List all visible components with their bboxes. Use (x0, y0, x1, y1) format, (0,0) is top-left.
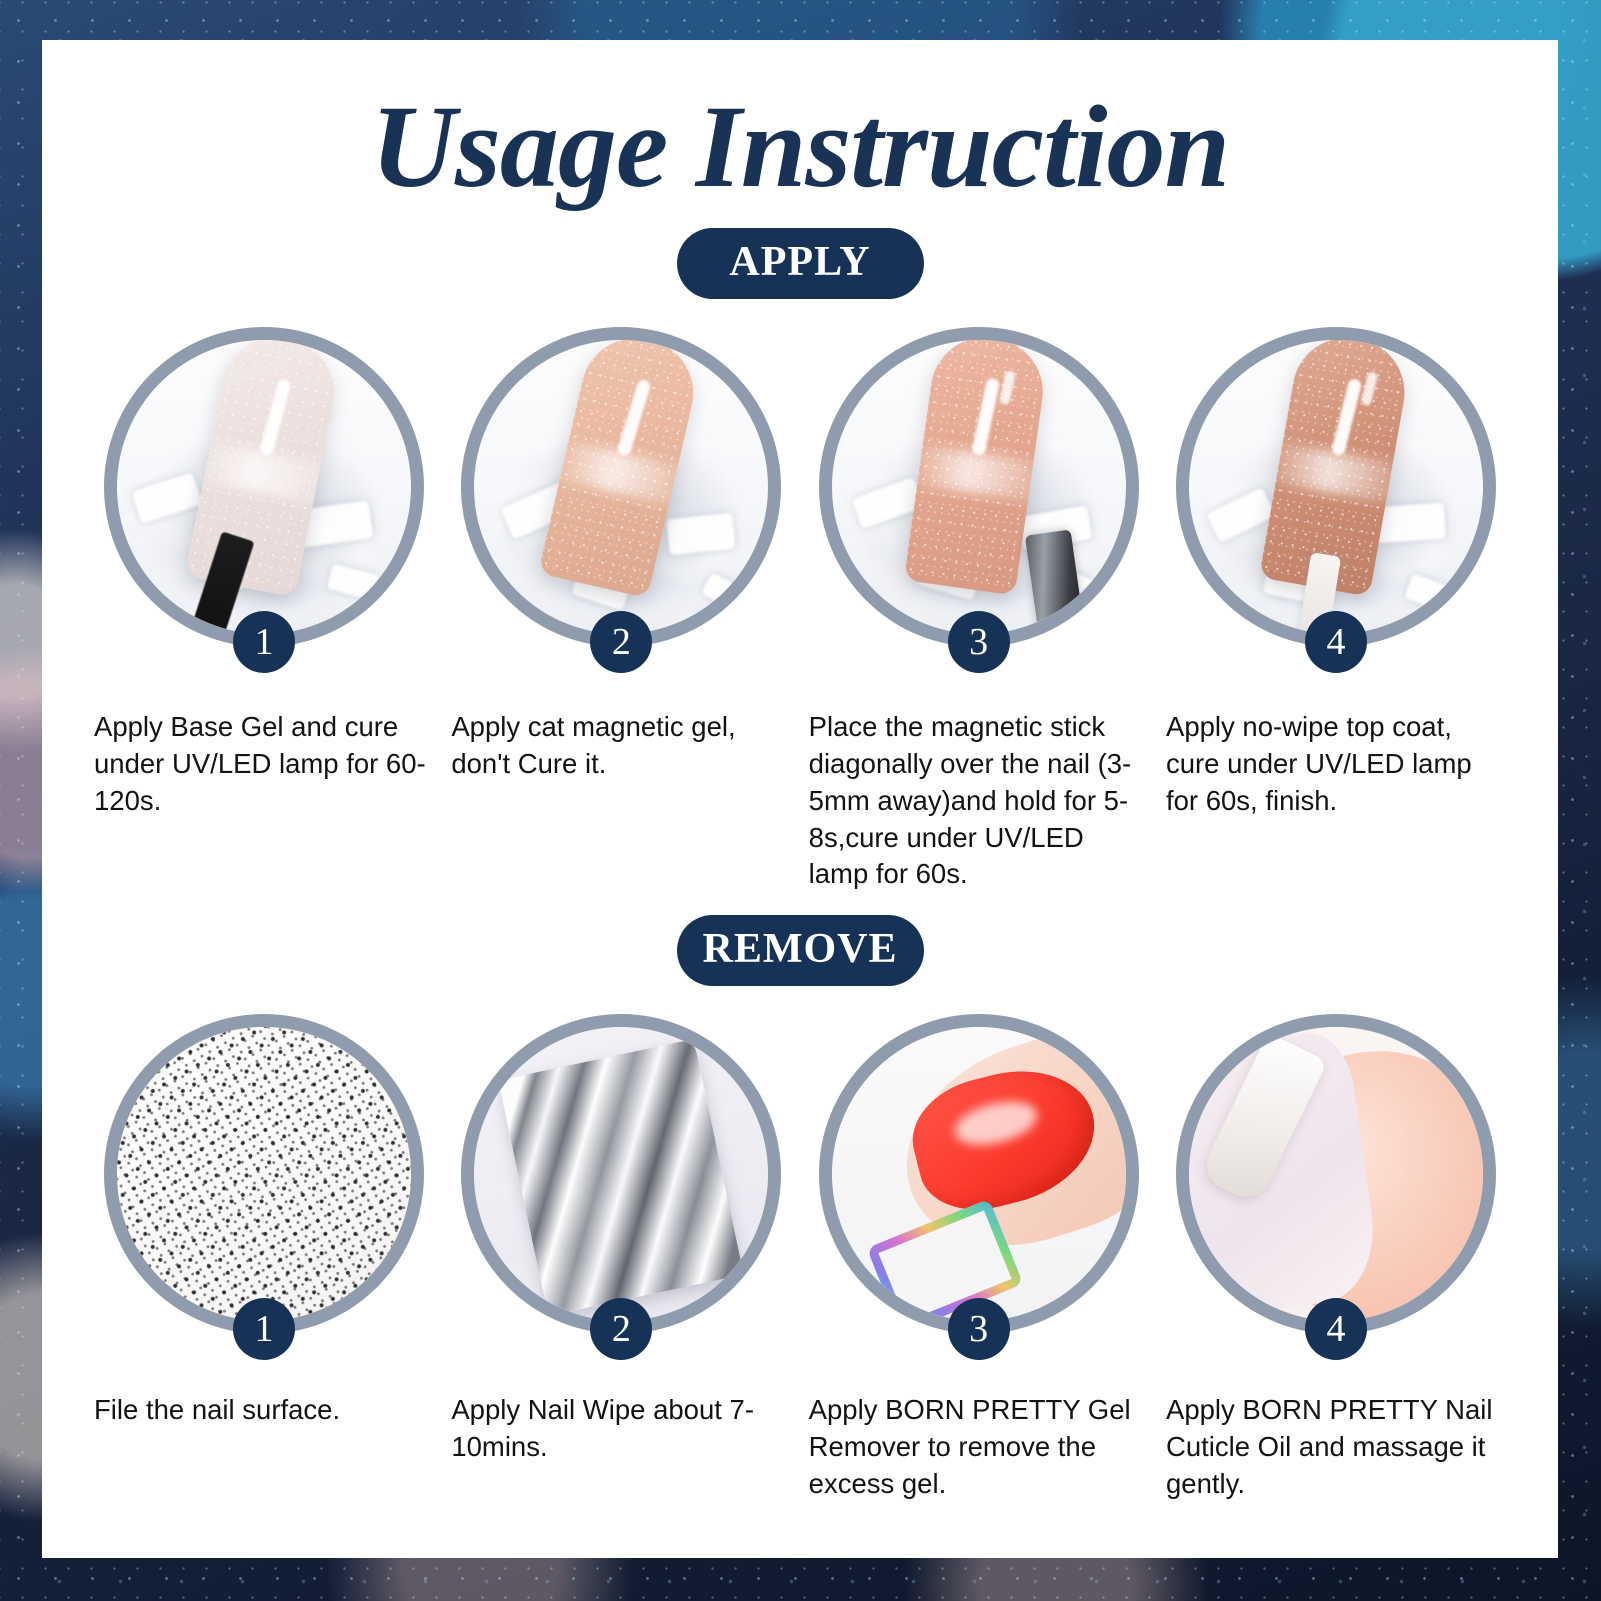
remove-step-1: 1 File the nail surface. (94, 1014, 434, 1503)
remove-step-3-caption: Apply BORN PRETTY Gel Remover to remove … (809, 1392, 1149, 1503)
remove-step-4-image: 4 (1176, 1014, 1496, 1334)
apply-step-3-caption: Place the magnetic stick diagonally over… (809, 709, 1149, 893)
apply-step-3-image: 3 (819, 327, 1139, 647)
photo-inner (117, 340, 411, 634)
apply-step-1: 1 Apply Base Gel and cure under UV/LED l… (94, 327, 434, 893)
photo-inner (474, 340, 768, 634)
photo-inner (1189, 1027, 1483, 1321)
apply-step-4-caption: Apply no-wipe top coat, cure under UV/LE… (1166, 709, 1506, 820)
apply-step-2-image: 2 (461, 327, 781, 647)
apply-step-1-image: 1 (104, 327, 424, 647)
photo-ring (461, 327, 781, 647)
remove-step-2-image: 2 (461, 1014, 781, 1334)
apply-step-1-caption: Apply Base Gel and cure under UV/LED lam… (94, 709, 434, 820)
apply-step-3: 3 Place the magnetic stick diagonally ov… (809, 327, 1149, 893)
remove-step-2-caption: Apply Nail Wipe about 7-10mins. (451, 1392, 791, 1466)
step-badge: 3 (948, 611, 1010, 673)
step-badge: 4 (1305, 1298, 1367, 1360)
foil-wrap-icon (498, 1038, 744, 1315)
step-badge: 4 (1305, 611, 1367, 673)
photo-ring (819, 327, 1139, 647)
instruction-card: Usage Instruction APPLY (42, 40, 1558, 1558)
remove-step-3: 3 Apply BORN PRETTY Gel Remover to remov… (809, 1014, 1149, 1503)
step-badge: 2 (590, 611, 652, 673)
photo-ring (461, 1014, 781, 1334)
apply-step-4: 4 Apply no-wipe top coat, cure under UV/… (1166, 327, 1506, 893)
section-pill-remove: REMOVE (677, 915, 924, 986)
remove-steps-row: 1 File the nail surface. 2 Apply Nail Wi… (42, 1014, 1558, 1503)
photo-inner (832, 340, 1126, 634)
photo-inner (117, 1027, 411, 1321)
step-badge: 2 (590, 1298, 652, 1360)
remove-step-1-caption: File the nail surface. (94, 1392, 434, 1429)
nail-file-icon (117, 1027, 411, 1321)
photo-ring (1176, 327, 1496, 647)
photo-ring (1176, 1014, 1496, 1334)
apply-step-2: 2 Apply cat magnetic gel, don't Cure it. (451, 327, 791, 893)
apply-steps-row: 1 Apply Base Gel and cure under UV/LED l… (42, 327, 1558, 893)
remove-step-4-caption: Apply BORN PRETTY Nail Cuticle Oil and m… (1166, 1392, 1506, 1503)
apply-step-4-image: 4 (1176, 327, 1496, 647)
remove-step-3-image: 3 (819, 1014, 1139, 1334)
step-badge: 3 (948, 1298, 1010, 1360)
page-title: Usage Instruction (42, 88, 1558, 206)
photo-ring (104, 327, 424, 647)
step-badge: 1 (233, 1298, 295, 1360)
remove-step-2: 2 Apply Nail Wipe about 7-10mins. (451, 1014, 791, 1503)
photo-inner (474, 1027, 768, 1321)
section-pill-apply: APPLY (677, 228, 924, 299)
photo-inner (1189, 340, 1483, 634)
apply-step-2-caption: Apply cat magnetic gel, don't Cure it. (451, 709, 791, 783)
photo-ring (104, 1014, 424, 1334)
remove-step-1-image: 1 (104, 1014, 424, 1334)
remove-step-4: 4 Apply BORN PRETTY Nail Cuticle Oil and… (1166, 1014, 1506, 1503)
step-badge: 1 (233, 611, 295, 673)
photo-inner (832, 1027, 1126, 1321)
background-bokeh: Usage Instruction APPLY (0, 0, 1601, 1601)
photo-ring (819, 1014, 1139, 1334)
